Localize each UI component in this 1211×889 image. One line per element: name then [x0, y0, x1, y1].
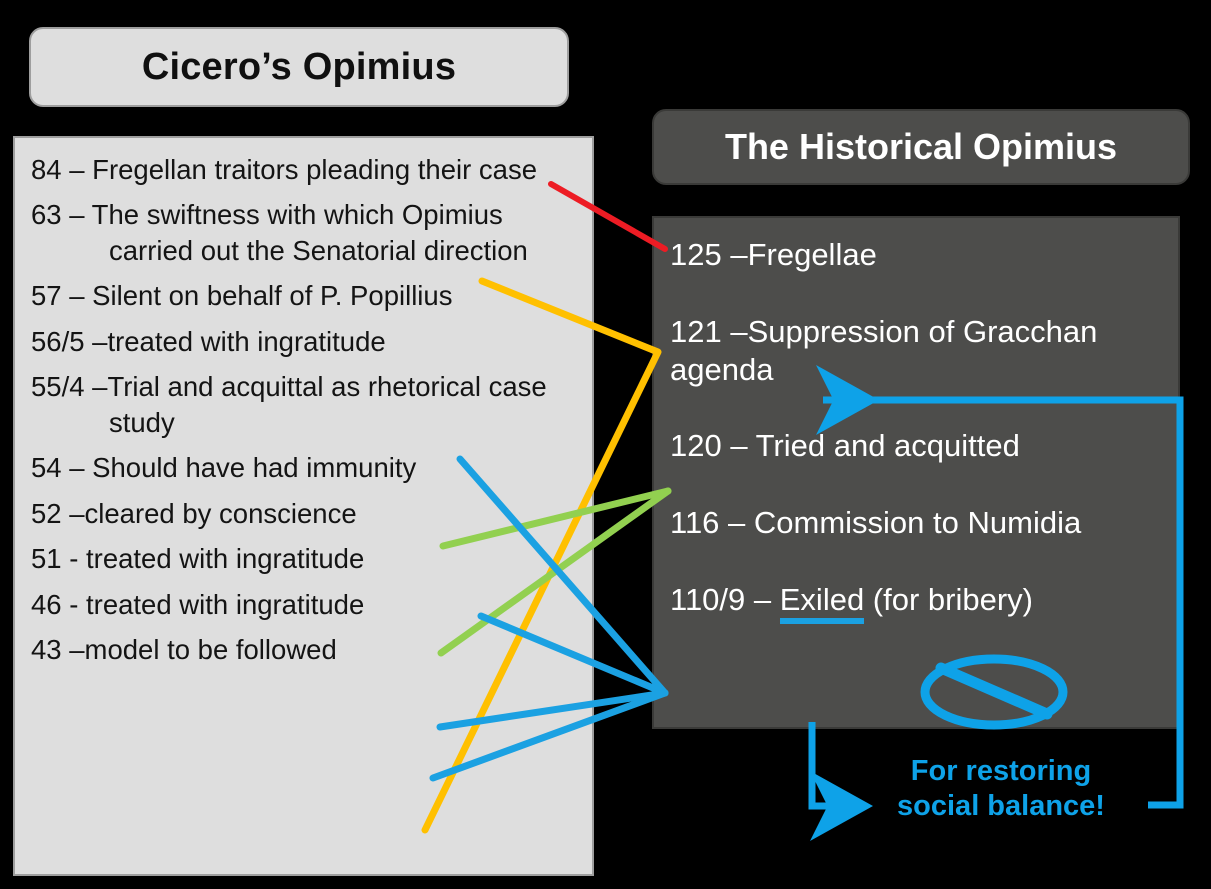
list-item-ref: 46 -: [31, 589, 86, 620]
list-item-text: treated with ingratitude: [86, 589, 364, 620]
list-item: 54 – Should have had immunity: [31, 450, 582, 485]
list-item-text: Silent on behalf of P. Popillius: [92, 280, 452, 311]
list-item: 57 – Silent on behalf of P. Popillius: [31, 278, 582, 313]
paren-open: (: [864, 582, 883, 617]
list-item-text: treated with ingratitude: [86, 543, 364, 574]
list-item: 84 – Fregellan traitors pleading their c…: [31, 152, 582, 187]
right-column-title: The Historical Opimius: [652, 109, 1190, 185]
list-item: 125 –Fregellae: [670, 236, 1170, 274]
list-item: 56/5 –treated with ingratitude: [31, 324, 582, 359]
list-item-ref: 52 –: [31, 498, 85, 529]
list-item: 63 – The swiftness with which Opimius ca…: [31, 197, 582, 268]
callout-text: For restoring social balance!: [886, 754, 1116, 825]
historical-events-list: 125 –Fregellae 121 –Suppression of Gracc…: [654, 218, 1178, 619]
list-item-text: Fregellan traitors pleading their case: [92, 154, 537, 185]
list-item-text: treated with ingratitude: [107, 326, 385, 357]
list-item: 52 –cleared by conscience: [31, 496, 582, 531]
struck-reason-text: for bribery: [883, 582, 1023, 617]
list-item-ref: 84 –: [31, 154, 92, 185]
callout-line-2: social balance!: [886, 789, 1116, 824]
list-item-ref: 57 –: [31, 280, 92, 311]
list-item: 43 –model to be followed: [31, 632, 582, 667]
historical-opimius-panel: 125 –Fregellae 121 –Suppression of Gracc…: [652, 216, 1180, 729]
list-item-ref: 51 -: [31, 543, 86, 574]
list-item: 120 – Tried and acquitted: [670, 427, 1170, 465]
list-item-text: Trial and acquittal as rhetorical case s…: [107, 371, 546, 437]
list-item-ref: 56/5 –: [31, 326, 107, 357]
list-item-text: The swiftness with which Opimius carried…: [92, 199, 528, 265]
list-item-ref: 54 –: [31, 452, 92, 483]
list-item-ref: 63 –: [31, 199, 92, 230]
list-item-text: Should have had immunity: [92, 452, 416, 483]
list-item: 121 –Suppression of Gracchan agenda: [670, 313, 1170, 389]
left-column-title: Cicero’s Opimius: [29, 27, 569, 107]
list-item: 46 - treated with ingratitude: [31, 587, 582, 622]
list-item: 116 – Commission to Numidia: [670, 504, 1170, 542]
cicero-reference-list: 84 – Fregellan traitors pleading their c…: [15, 138, 592, 668]
exiled-underlined-word: Exiled: [780, 582, 864, 624]
list-item: 55/4 –Trial and acquittal as rhetorical …: [31, 369, 582, 440]
list-item-text: cleared by conscience: [85, 498, 357, 529]
list-item-ref: 43 –: [31, 634, 85, 665]
connector-blue-exiled-to-callout: [812, 722, 866, 806]
callout-line-1: For restoring: [886, 754, 1116, 789]
slide-canvas: Cicero’s Opimius The Historical Opimius …: [0, 0, 1211, 889]
list-item-ref: 55/4 –: [31, 371, 107, 402]
exiled-prefix: 110/9 –: [670, 582, 780, 617]
list-item-exiled: 110/9 – Exiled (for bribery): [670, 581, 1170, 619]
paren-close: ): [1023, 582, 1033, 617]
list-item-text: model to be followed: [85, 634, 337, 665]
list-item: 51 - treated with ingratitude: [31, 541, 582, 576]
cicero-opimius-panel: 84 – Fregellan traitors pleading their c…: [13, 136, 594, 876]
